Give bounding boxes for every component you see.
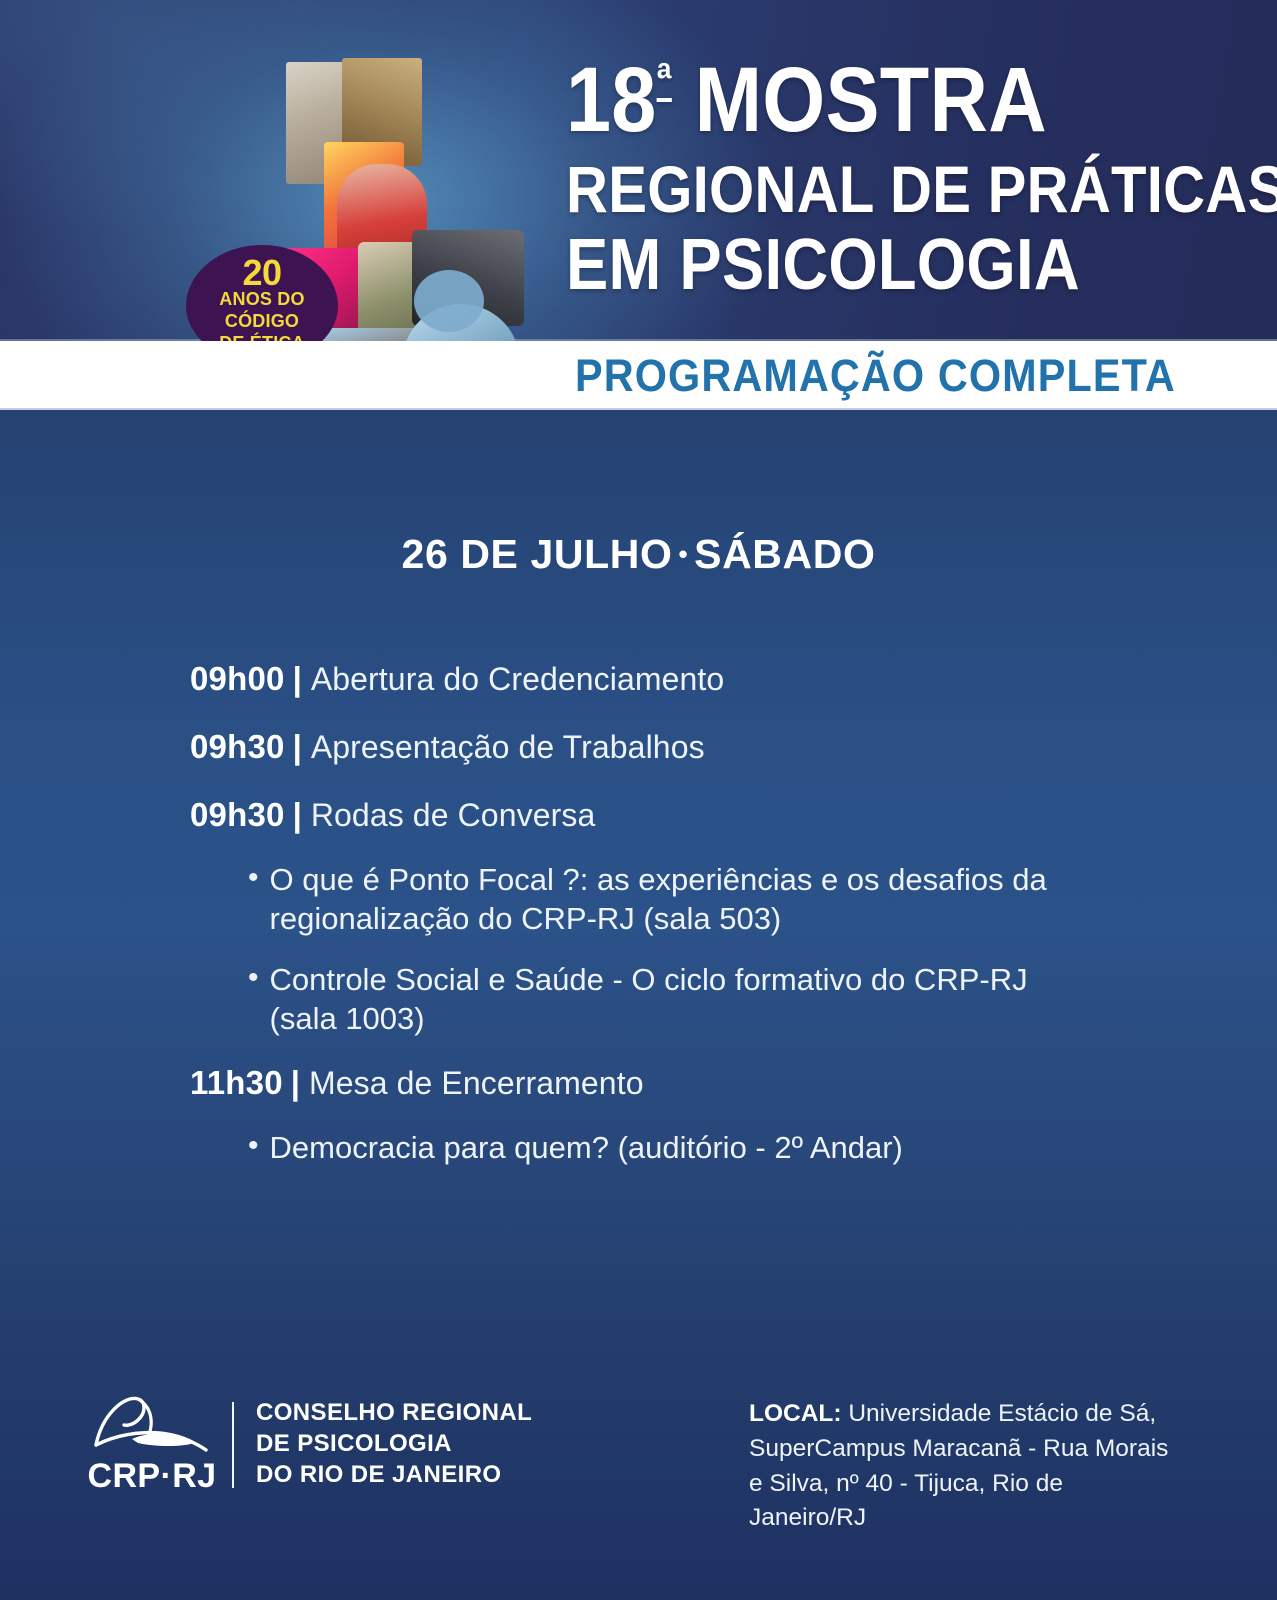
event-title-number: 18 bbox=[566, 49, 657, 151]
crp-rj-fullname-line3: DO RIO DE JANEIRO bbox=[256, 1460, 532, 1491]
bullet-icon: • bbox=[248, 960, 270, 997]
schedule-time: 09h00 bbox=[190, 660, 285, 698]
schedule-subitem-text: Controle Social e Saúde - O ciclo format… bbox=[270, 960, 1078, 1038]
event-title-line3: EM PSICOLOGIA bbox=[566, 230, 1182, 301]
logo-divider bbox=[232, 1402, 234, 1488]
schedule-separator: | bbox=[285, 728, 311, 766]
schedule-separator: | bbox=[285, 660, 311, 698]
schedule-title: Apresentação de Trabalhos bbox=[311, 729, 705, 766]
schedule-subitem-text: O que é Ponto Focal ?: as experiências e… bbox=[270, 860, 1078, 938]
venue-label: LOCAL: bbox=[749, 1400, 842, 1427]
schedule-subitem: • Democracia para quem? (auditório - 2º … bbox=[248, 1128, 1078, 1167]
date-heading: 26 DE JULHO•SÁBADO bbox=[0, 531, 1277, 578]
poster-header: 18ª MOSTRA REGIONAL DE PRÁTICAS EM PSICO… bbox=[0, 0, 1277, 341]
event-title-line1: 18ª MOSTRA bbox=[566, 55, 1182, 145]
poster-root: 18ª MOSTRA REGIONAL DE PRÁTICAS EM PSICO… bbox=[0, 0, 1277, 1600]
crp-rj-acronym: CRP·RJ bbox=[88, 1457, 217, 1496]
badge-line-1: ANOS DO bbox=[219, 289, 304, 311]
schedule-subitem-text: Democracia para quem? (auditório - 2º An… bbox=[270, 1128, 903, 1167]
crp-rj-fullname: CONSELHO REGIONAL DE PSICOLOGIA DO RIO D… bbox=[256, 1398, 532, 1490]
schedule-title: Rodas de Conversa bbox=[311, 797, 596, 834]
event-title-word: MOSTRA bbox=[672, 49, 1047, 151]
schedule-list: 09h00 | Abertura do Credenciamento 09h30… bbox=[0, 660, 1277, 1193]
badge-line-2: CÓDIGO bbox=[225, 311, 299, 333]
crp-rj-fullname-line1: CONSELHO REGIONAL bbox=[256, 1398, 532, 1429]
collage-counter-shape bbox=[414, 270, 484, 332]
schedule-subitem: • Controle Social e Saúde - O ciclo form… bbox=[248, 960, 1078, 1038]
schedule-entry: 09h30 | Rodas de Conversa bbox=[0, 796, 1277, 834]
event-title: 18ª MOSTRA REGIONAL DE PRÁTICAS EM PSICO… bbox=[566, 55, 1266, 300]
venue-block: LOCAL: Universidade Estácio de Sá, Super… bbox=[749, 1397, 1179, 1536]
event-title-line2: REGIONAL DE PRÁTICAS bbox=[566, 157, 1182, 222]
bird-book-icon bbox=[90, 1393, 214, 1455]
schedule-time: 09h30 bbox=[190, 796, 285, 834]
badge-number: 20 bbox=[242, 256, 281, 289]
date-heading-day: 26 DE JULHO bbox=[402, 531, 673, 577]
crp-rj-logo: CRP·RJ CONSELHO REGIONAL DE PSICOLOGIA D… bbox=[88, 1393, 532, 1496]
schedule-separator: | bbox=[283, 1064, 309, 1102]
schedule-subitem: • O que é Ponto Focal ?: as experiências… bbox=[248, 860, 1078, 938]
schedule-title: Abertura do Credenciamento bbox=[311, 661, 725, 698]
schedule-sublist: • Democracia para quem? (auditório - 2º … bbox=[0, 1128, 1277, 1167]
crp-rj-fullname-line2: DE PSICOLOGIA bbox=[256, 1429, 532, 1460]
schedule-entry: 11h30 | Mesa de Encerramento bbox=[0, 1064, 1277, 1102]
programme-subtitle: PROGRAMAÇÃO COMPLETA bbox=[575, 342, 1176, 410]
schedule-time: 11h30 bbox=[190, 1064, 283, 1102]
schedule-entry: 09h30 | Apresentação de Trabalhos bbox=[0, 728, 1277, 766]
badge-line-3: DE ÉTICA bbox=[219, 333, 305, 341]
event-title-ordinal: ª bbox=[657, 53, 672, 105]
date-heading-separator-dot: • bbox=[672, 539, 694, 569]
poster-footer: CRP·RJ CONSELHO REGIONAL DE PSICOLOGIA D… bbox=[0, 1385, 1277, 1535]
bullet-icon: • bbox=[248, 1128, 270, 1165]
schedule-title: Mesa de Encerramento bbox=[309, 1065, 644, 1102]
schedule-entry: 09h00 | Abertura do Credenciamento bbox=[0, 660, 1277, 698]
schedule-sublist: • O que é Ponto Focal ?: as experiências… bbox=[0, 860, 1277, 1038]
date-heading-weekday: SÁBADO bbox=[694, 531, 875, 577]
schedule-separator: | bbox=[285, 796, 311, 834]
bullet-icon: • bbox=[248, 860, 270, 897]
schedule-time: 09h30 bbox=[190, 728, 285, 766]
crp-rj-logo-mark: CRP·RJ bbox=[88, 1393, 216, 1496]
